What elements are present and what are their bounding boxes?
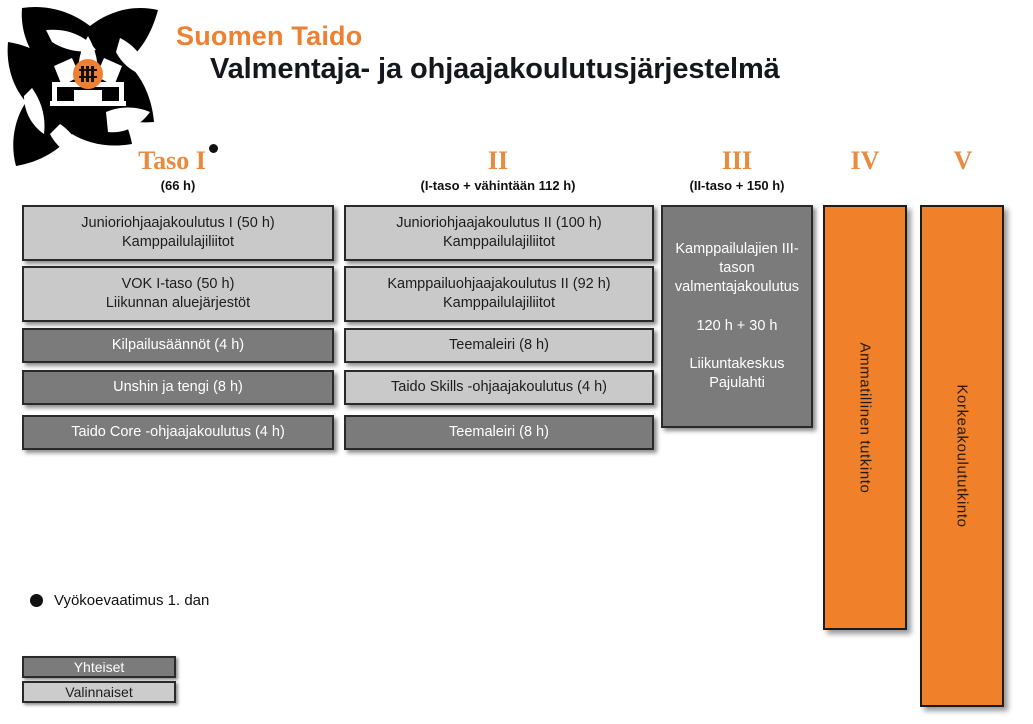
- course-box-label: Junioriohjaajakoulutus I (50 h) Kamppail…: [30, 214, 326, 252]
- header: Suomen Taido Valmentaja- ja ohjaajakoulu…: [0, 0, 1033, 140]
- course-box[interactable]: Taido Skills -ohjaajakoulutus (4 h): [344, 370, 654, 405]
- course-box-label: Unshin ja tengi (8 h): [30, 378, 326, 397]
- level-heading-1: Taso I (66 h): [108, 148, 248, 192]
- level-note-3: (II-taso + 150 h): [652, 179, 822, 192]
- course-box-label: Junioriohjaajakoulutus II (100 h) Kamppa…: [352, 214, 646, 252]
- level-note-1: (66 h): [108, 179, 248, 192]
- pillar-label: Korkeakoulututkinto: [954, 384, 971, 527]
- pillar-vocational-degree[interactable]: Ammatillinen tutkinto: [823, 205, 907, 630]
- level-roman-2: II: [398, 148, 598, 174]
- course-box[interactable]: Kamppailulajien III-tason valmentajakoul…: [661, 205, 813, 428]
- level-roman-1: Taso I: [108, 148, 248, 174]
- page-title-main: Suomen Taido: [176, 22, 780, 50]
- suomen-taido-emblem-icon: [2, 2, 178, 170]
- course-box-label: Taido Skills -ohjaajakoulutus (4 h): [352, 378, 646, 397]
- legend-key-common: Yhteiset: [22, 656, 176, 678]
- course-box[interactable]: Teemaleiri (8 h): [344, 415, 654, 450]
- course-box-label: VOK I-taso (50 h) Liikunnan aluejärjestö…: [30, 275, 326, 313]
- course-box-label: Kamppailulajien III-tason valmentajakoul…: [669, 240, 805, 393]
- level-heading-3: III (II-taso + 150 h): [652, 148, 822, 192]
- level-note-2: (I-taso + vähintään 112 h): [398, 179, 598, 192]
- level-roman-5: V: [922, 148, 1004, 174]
- course-box-label: Teemaleiri (8 h): [352, 336, 646, 355]
- pillar-university-degree[interactable]: Korkeakoulututkinto: [920, 205, 1004, 707]
- level-heading-2: II (I-taso + vähintään 112 h): [398, 148, 598, 192]
- course-box[interactable]: Junioriohjaajakoulutus I (50 h) Kamppail…: [22, 205, 334, 261]
- course-box-label: Taido Core -ohjaajakoulutus (4 h): [30, 423, 326, 442]
- page-title-sub: Valmentaja- ja ohjaajakoulutusjärjestelm…: [210, 54, 780, 84]
- course-box-label: Kilpailusäännöt (4 h): [30, 336, 326, 355]
- course-box[interactable]: Teemaleiri (8 h): [344, 328, 654, 363]
- legend-belt-requirement-label: Vyökoevaatimus 1. dan: [54, 592, 209, 609]
- level-heading-4: IV: [824, 148, 906, 179]
- legend-key-optional-label: Valinnaiset: [65, 684, 132, 700]
- course-box[interactable]: VOK I-taso (50 h) Liikunnan aluejärjestö…: [22, 266, 334, 322]
- level-roman-3: III: [652, 148, 822, 174]
- legend-key-common-label: Yhteiset: [74, 659, 125, 675]
- bullet-dot-icon: [30, 594, 43, 607]
- belt-requirement-dot-icon: [209, 144, 218, 153]
- course-box[interactable]: Unshin ja tengi (8 h): [22, 370, 334, 405]
- course-box[interactable]: Taido Core -ohjaajakoulutus (4 h): [22, 415, 334, 450]
- legend-belt-requirement: Vyökoevaatimus 1. dan: [30, 592, 209, 609]
- course-box-label: Teemaleiri (8 h): [352, 423, 646, 442]
- title-block: Suomen Taido Valmentaja- ja ohjaajakoulu…: [176, 22, 780, 85]
- course-box[interactable]: Kamppailuohjaajakoulutus II (92 h) Kampp…: [344, 266, 654, 322]
- course-box-label: Kamppailuohjaajakoulutus II (92 h) Kampp…: [352, 275, 646, 313]
- legend-key-optional: Valinnaiset: [22, 681, 176, 703]
- level-roman-4: IV: [824, 148, 906, 174]
- level-heading-5: V: [922, 148, 1004, 179]
- course-box[interactable]: Junioriohjaajakoulutus II (100 h) Kamppa…: [344, 205, 654, 261]
- pillar-label: Ammatillinen tutkinto: [857, 342, 874, 493]
- course-box[interactable]: Kilpailusäännöt (4 h): [22, 328, 334, 363]
